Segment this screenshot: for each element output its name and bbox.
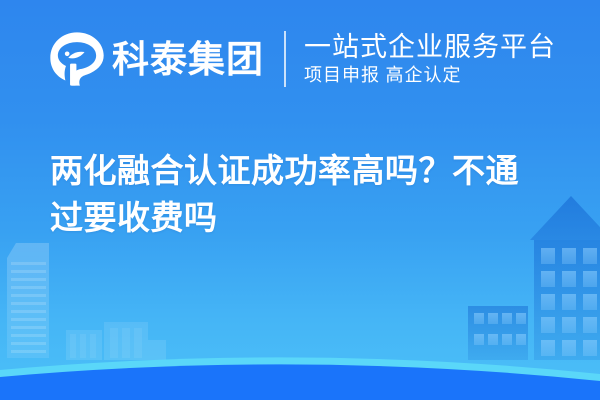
ketai-circle-logo-icon [48,30,106,88]
tagline-block: 一站式企业服务平台 项目申报 高企认定 [304,32,556,87]
banner-header: 科泰集团 一站式企业服务平台 项目申报 高企认定 [0,0,600,118]
page-title: 两化融合认证成功率高吗？不通 过要收费吗 [50,148,560,242]
tagline-main: 一站式企业服务平台 [304,32,556,62]
brand-name: 科泰集团 [112,41,264,78]
bottom-arc-curve [0,310,600,400]
promo-banner: 科泰集团 一站式企业服务平台 项目申报 高企认定 两化融合认证成功率高吗？不通 … [0,0,600,400]
page-title-line-2: 过要收费吗 [50,195,560,242]
page-title-line-1: 两化融合认证成功率高吗？不通 [50,148,560,195]
brand-divider [284,31,286,87]
tagline-sub: 项目申报 高企认定 [304,65,556,87]
